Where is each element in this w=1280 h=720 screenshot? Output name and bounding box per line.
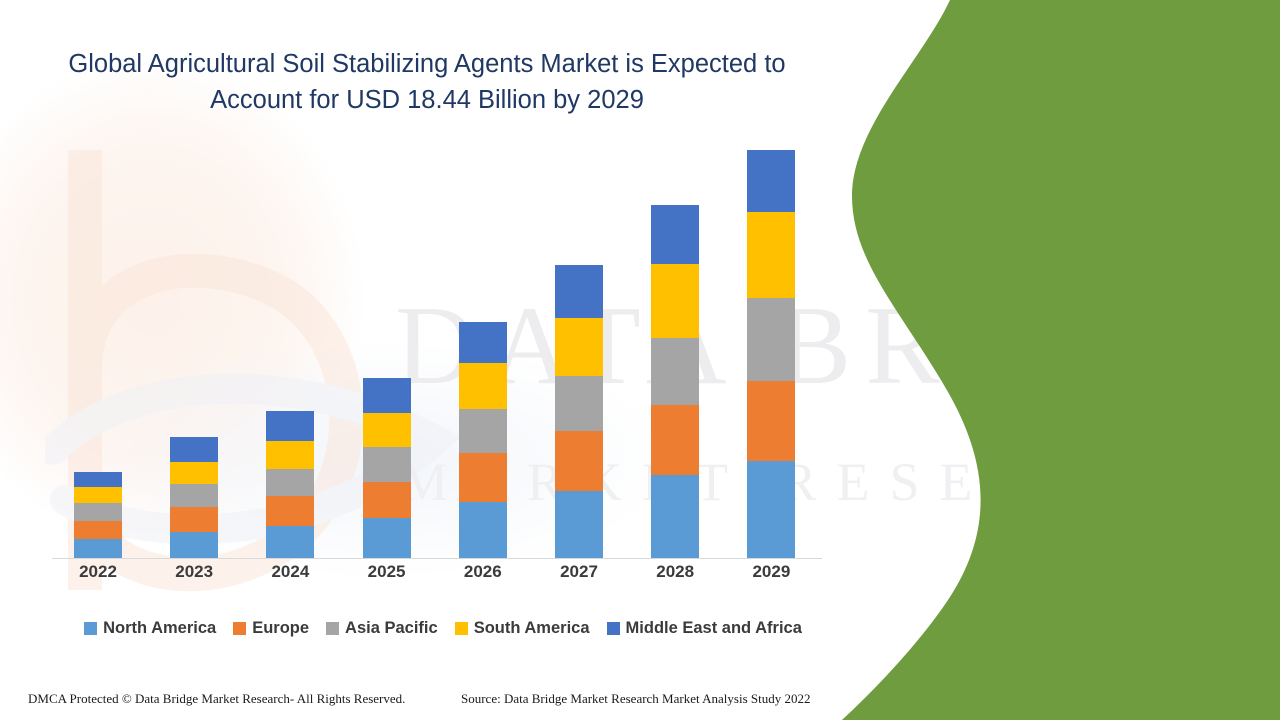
x-axis-label-2027: 2027 <box>544 562 614 582</box>
bar-segment-2027-asia-pacific <box>555 376 603 432</box>
bar-segment-2023-middle-east-and-africa <box>170 437 218 462</box>
footer-dmca-notice: DMCA Protected © Data Bridge Market Rese… <box>28 691 405 707</box>
bar-segment-2024-asia-pacific <box>266 469 314 496</box>
bar-2022 <box>74 472 122 558</box>
legend-label: North America <box>103 619 216 638</box>
bar-segment-2026-north-america <box>459 502 507 558</box>
x-axis-label-2025: 2025 <box>352 562 422 582</box>
bar-2028 <box>651 205 699 558</box>
bar-segment-2023-north-america <box>170 532 218 558</box>
bar-segment-2023-south-america <box>170 462 218 484</box>
chart-legend: North AmericaEuropeAsia PacificSouth Ame… <box>52 616 834 640</box>
legend-swatch-icon <box>84 622 97 635</box>
legend-swatch-icon <box>607 622 620 635</box>
x-axis-label-2028: 2028 <box>640 562 710 582</box>
legend-label: Europe <box>252 619 309 638</box>
bar-segment-2022-south-america <box>74 487 122 503</box>
bar-segment-2023-europe <box>170 507 218 532</box>
bar-2029 <box>747 150 795 558</box>
footer-source-note: Source: Data Bridge Market Research Mark… <box>461 691 810 707</box>
legend-item-europe[interactable]: Europe <box>233 619 309 638</box>
legend-item-middle-east-and-africa[interactable]: Middle East and Africa <box>607 619 802 638</box>
bar-segment-2022-north-america <box>74 539 122 558</box>
bar-segment-2025-europe <box>363 482 411 518</box>
bar-segment-2026-south-america <box>459 363 507 409</box>
bar-segment-2027-north-america <box>555 491 603 558</box>
x-axis-label-2029: 2029 <box>736 562 806 582</box>
bar-segment-2026-middle-east-and-africa <box>459 322 507 362</box>
legend-item-south-america[interactable]: South America <box>455 619 590 638</box>
x-axis-label-2023: 2023 <box>159 562 229 582</box>
bar-segment-2023-asia-pacific <box>170 484 218 507</box>
bar-segment-2025-asia-pacific <box>363 447 411 482</box>
page-title: Global Agricultural Soil Stabilizing Age… <box>62 46 792 118</box>
bar-2024 <box>266 411 314 558</box>
bar-segment-2024-north-america <box>266 526 314 558</box>
infographic-canvas: DATA BRIDGE MARKET RESEARCH Global Agric… <box>0 0 1280 720</box>
bar-segment-2027-south-america <box>555 318 603 376</box>
bar-segment-2029-south-america <box>747 212 795 298</box>
legend-label: South America <box>474 619 590 638</box>
bar-segment-2025-north-america <box>363 518 411 558</box>
legend-label: Middle East and Africa <box>626 619 802 638</box>
bar-2025 <box>363 378 411 558</box>
legend-swatch-icon <box>455 622 468 635</box>
bar-segment-2028-asia-pacific <box>651 338 699 406</box>
bar-segment-2024-middle-east-and-africa <box>266 411 314 442</box>
bar-segment-2028-south-america <box>651 264 699 338</box>
green-panel-shape <box>830 0 1280 720</box>
bar-2026 <box>459 322 507 558</box>
bar-segment-2022-europe <box>74 521 122 540</box>
x-axis-label-2026: 2026 <box>448 562 518 582</box>
bar-segment-2027-middle-east-and-africa <box>555 265 603 319</box>
chart-plot-area <box>52 150 822 559</box>
bar-2027 <box>555 265 603 558</box>
bar-segment-2025-middle-east-and-africa <box>363 378 411 413</box>
bar-segment-2029-north-america <box>747 461 795 558</box>
branding-panel: Global Agricultural Soil Stabilizing Age… <box>830 0 1280 720</box>
bar-segment-2028-middle-east-and-africa <box>651 205 699 264</box>
legend-swatch-icon <box>326 622 339 635</box>
bar-segment-2029-europe <box>747 381 795 461</box>
bar-segment-2028-europe <box>651 405 699 475</box>
bar-segment-2029-middle-east-and-africa <box>747 150 795 212</box>
x-axis-label-2024: 2024 <box>255 562 325 582</box>
x-axis-label-2022: 2022 <box>63 562 133 582</box>
bar-segment-2026-asia-pacific <box>459 409 507 454</box>
bar-2023 <box>170 437 218 558</box>
x-axis-labels: 20222023202420252026202720282029 <box>52 562 822 592</box>
bar-segment-2027-europe <box>555 431 603 491</box>
bar-segment-2022-asia-pacific <box>74 503 122 520</box>
bar-segment-2022-middle-east-and-africa <box>74 472 122 487</box>
legend-label: Asia Pacific <box>345 619 438 638</box>
legend-item-asia-pacific[interactable]: Asia Pacific <box>326 619 438 638</box>
bar-segment-2024-south-america <box>266 441 314 468</box>
bar-segment-2024-europe <box>266 496 314 527</box>
bar-segment-2026-europe <box>459 453 507 502</box>
legend-item-north-america[interactable]: North America <box>84 619 216 638</box>
bar-segment-2025-south-america <box>363 413 411 447</box>
stacked-bar-chart: 20222023202420252026202720282029 <box>52 150 822 570</box>
bar-segment-2029-asia-pacific <box>747 298 795 381</box>
legend-swatch-icon <box>233 622 246 635</box>
bar-segment-2028-north-america <box>651 475 699 558</box>
x-axis-line <box>52 558 822 559</box>
